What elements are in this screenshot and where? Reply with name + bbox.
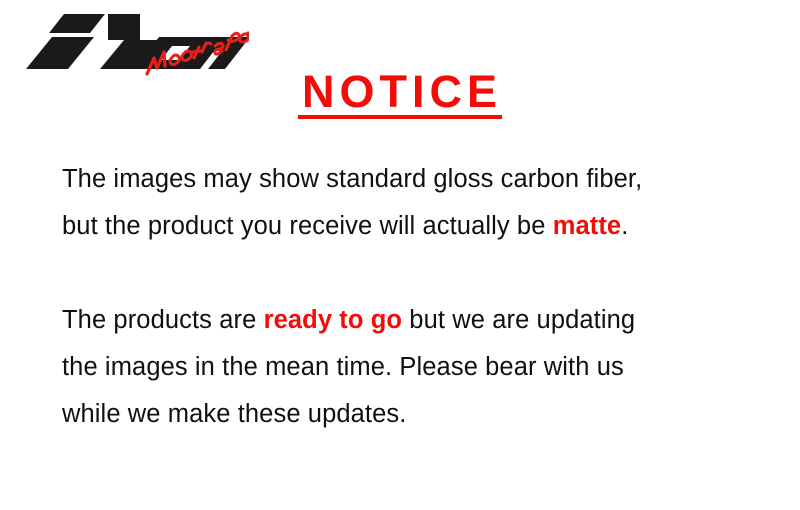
notice-paragraph-2-line-3: while we make these updates.: [62, 391, 762, 438]
p2-l3-text: while we make these updates.: [62, 400, 406, 428]
notice-paragraph-2-line-2: the images in the mean time. Please bear…: [62, 344, 762, 391]
notice-body: The images may show standard gloss carbo…: [62, 156, 762, 438]
logo-letter-i-dot: [49, 14, 105, 33]
notice-paragraph-1-line-2: but the product you receive will actuall…: [62, 203, 762, 250]
p1-l2-text-after: .: [621, 212, 628, 240]
highlight-matte: matte: [553, 212, 622, 240]
heading-underline-rule: [298, 115, 502, 119]
p1-l2-text-before: but the product you receive will actuall…: [62, 212, 553, 240]
p2-l1-text-before: The products are: [62, 306, 264, 334]
p2-l1-text-after: but we are updating: [402, 306, 635, 334]
highlight-ready-to-go: ready to go: [264, 306, 403, 334]
notice-paragraph-2-line-1: The products are ready to go but we are …: [62, 297, 762, 344]
p1-l1-text: The images may show standard gloss carbo…: [62, 165, 642, 193]
logo-letter-i-stem: [26, 37, 94, 69]
p2-l2-text: the images in the mean time. Please bear…: [62, 353, 624, 381]
notice-paragraph-1-line-1: The images may show standard gloss carbo…: [62, 156, 762, 203]
